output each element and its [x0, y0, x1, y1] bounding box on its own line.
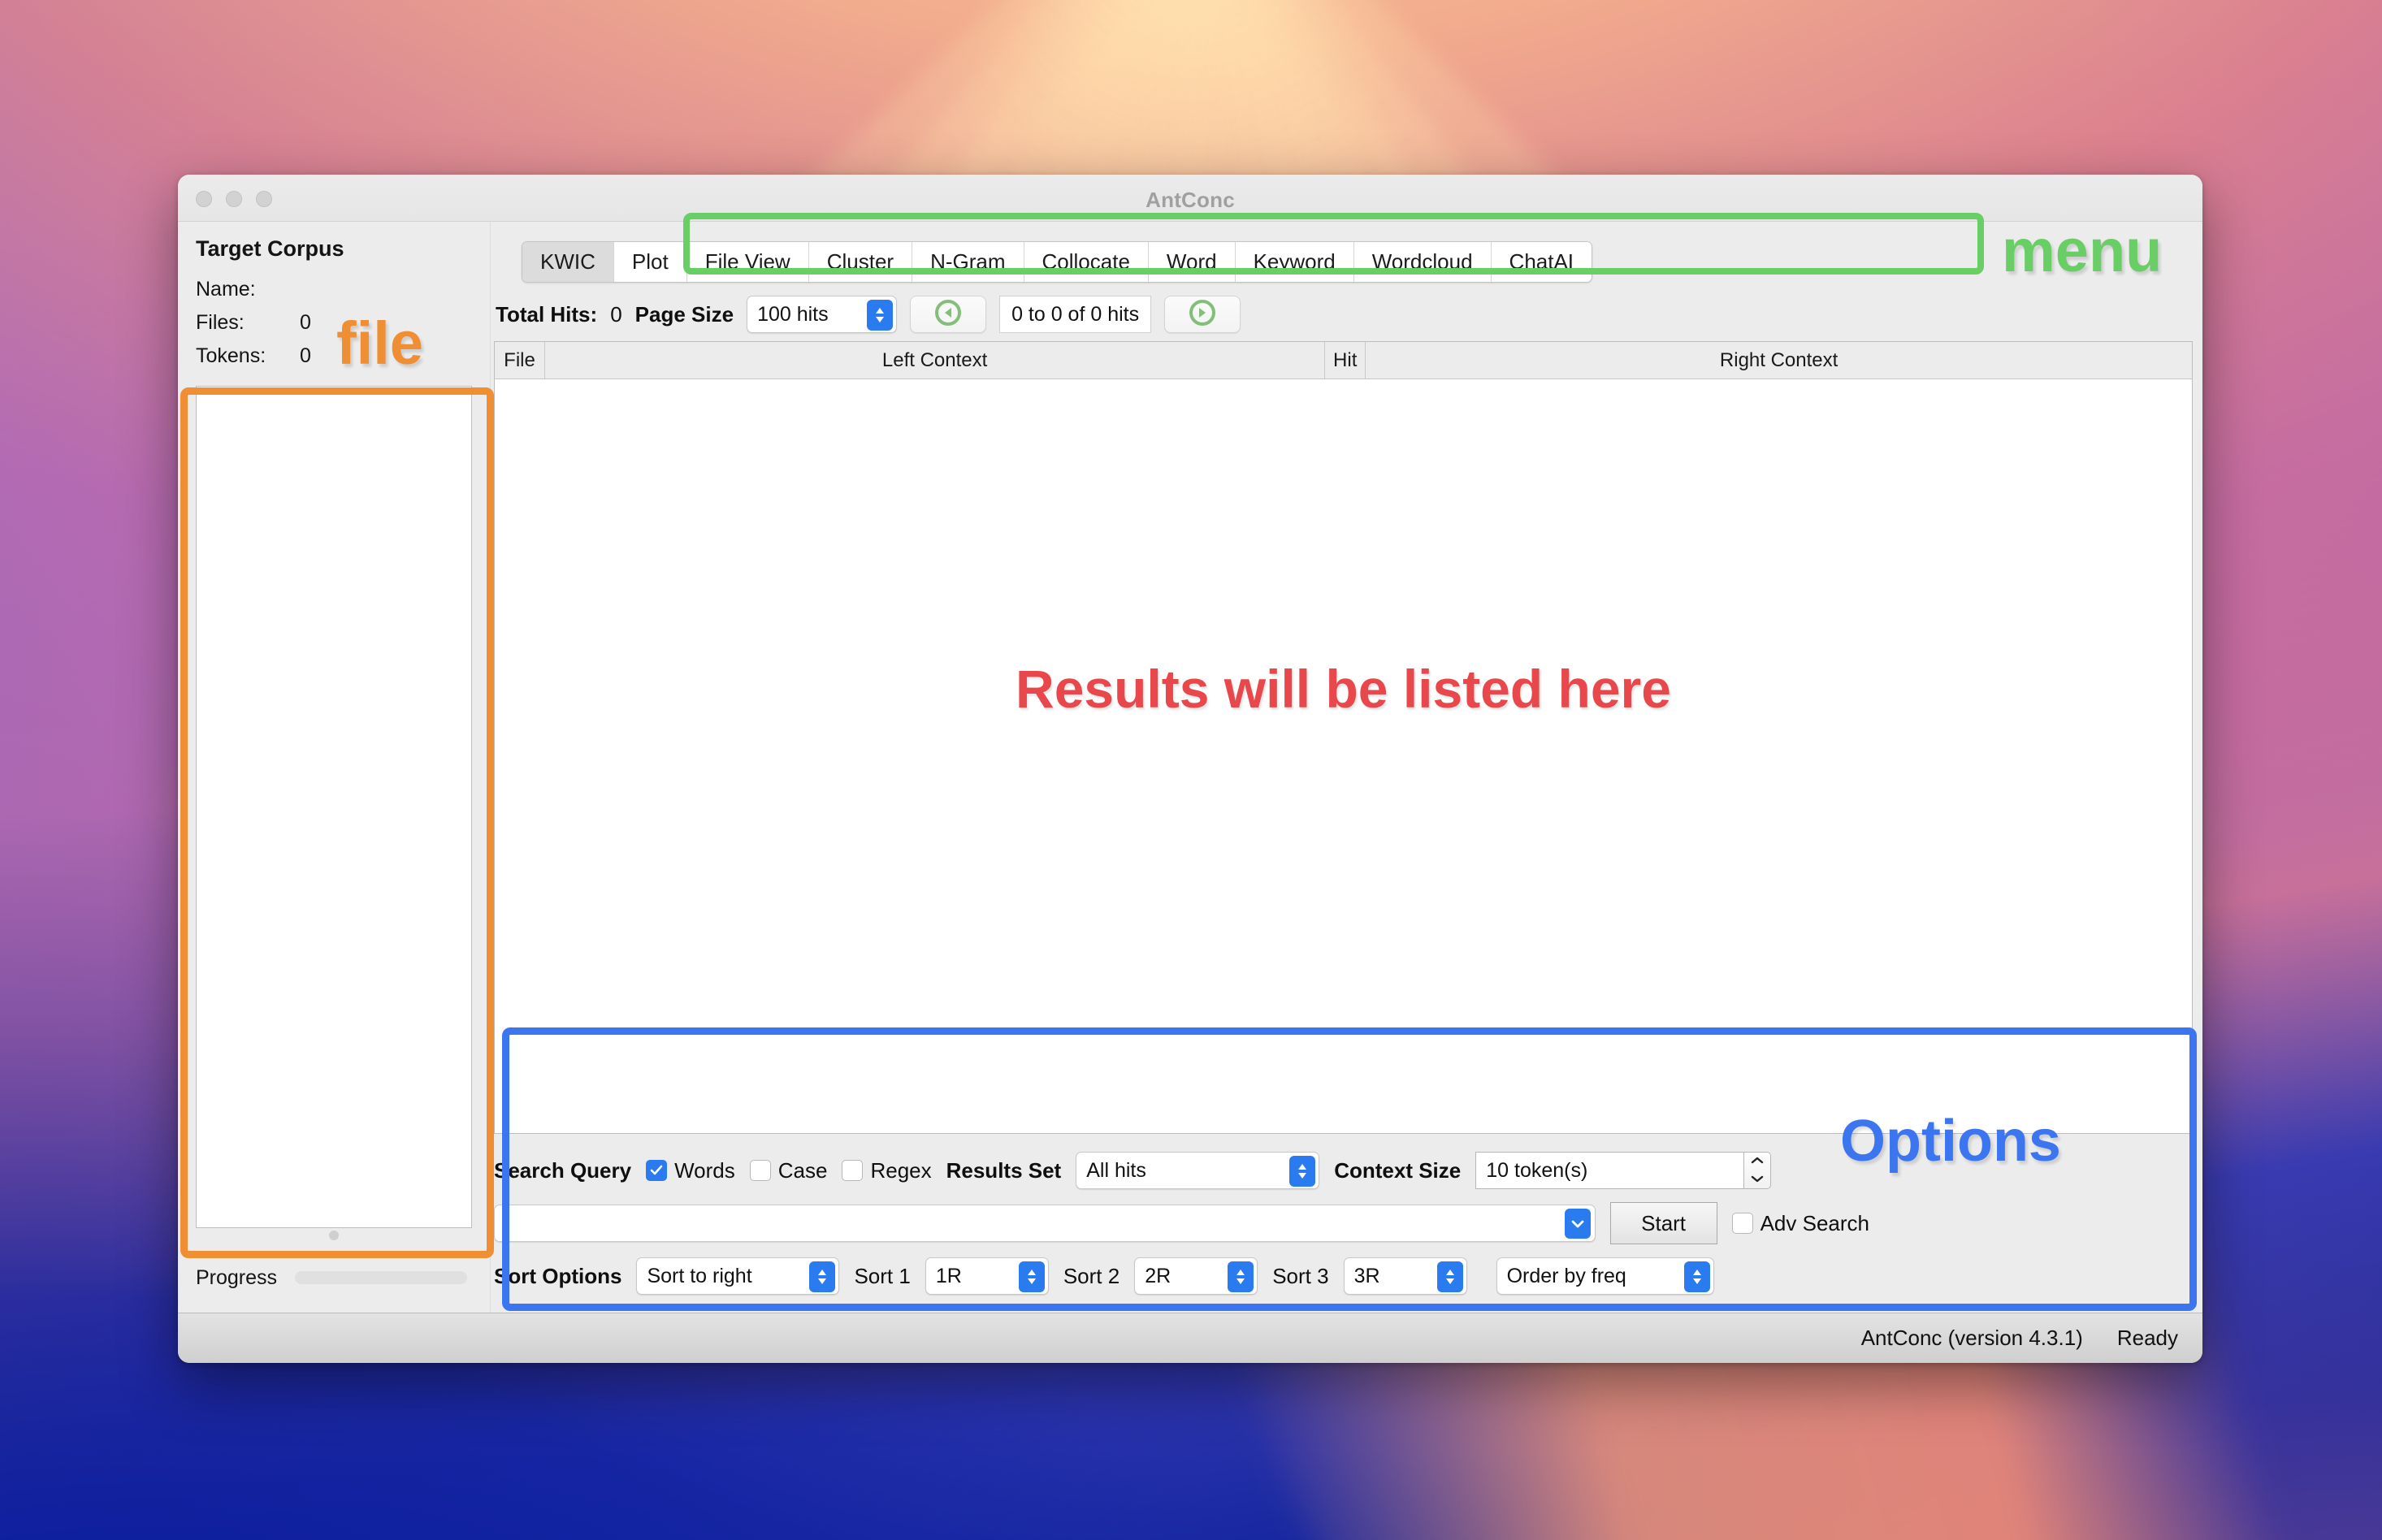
- main-panel: KWIC Plot File View Cluster N-Gram Collo…: [491, 222, 2202, 1313]
- tab-wordcloud[interactable]: Wordcloud: [1354, 242, 1492, 282]
- tab-cluster[interactable]: Cluster: [809, 242, 912, 282]
- app-version-text: AntConc (version 4.3.1): [1861, 1326, 2083, 1351]
- page-size-label: Page Size: [635, 302, 734, 327]
- progress-label: Progress: [196, 1266, 277, 1290]
- order-by-value: Order by freq: [1507, 1265, 1626, 1288]
- context-size-value[interactable]: 10 token(s): [1475, 1152, 1743, 1189]
- chevron-updown-icon[interactable]: [809, 1261, 835, 1292]
- adv-search-checkbox-group[interactable]: Adv Search: [1732, 1211, 1869, 1236]
- tabbar-container: KWIC Plot File View Cluster N-Gram Collo…: [491, 230, 2193, 291]
- tab-word[interactable]: Word: [1149, 242, 1236, 282]
- kwic-results-table: File Left Context Hit Right Context Resu…: [494, 341, 2193, 1134]
- tab-n-gram[interactable]: N-Gram: [912, 242, 1024, 282]
- sort-mode-value: Sort to right: [647, 1265, 751, 1288]
- words-checkbox-group[interactable]: Words: [646, 1158, 735, 1183]
- chevron-updown-icon[interactable]: [867, 300, 893, 331]
- table-body: Results will be listed here: [495, 379, 2192, 1133]
- status-bar: AntConc (version 4.3.1) Ready: [178, 1313, 2202, 1363]
- sort2-select[interactable]: 2R: [1134, 1257, 1258, 1295]
- context-size-label: Context Size: [1334, 1158, 1461, 1183]
- chevron-down-icon[interactable]: [1750, 1173, 1765, 1187]
- case-checkbox[interactable]: [750, 1160, 771, 1181]
- corpus-files-row: Files: 0: [196, 311, 472, 335]
- order-by-select[interactable]: Order by freq: [1496, 1257, 1714, 1295]
- sort-mode-select[interactable]: Sort to right: [636, 1257, 839, 1295]
- corpus-files-value: 0: [300, 311, 311, 335]
- search-query-input[interactable]: [494, 1205, 1596, 1242]
- arrow-left-circle-icon: [934, 299, 962, 331]
- context-size-stepper-arrows[interactable]: [1743, 1152, 1771, 1189]
- regex-checkbox[interactable]: [842, 1160, 863, 1181]
- corpus-tokens-label: Tokens:: [196, 344, 300, 368]
- start-button[interactable]: Start: [1610, 1202, 1717, 1244]
- column-header-hit[interactable]: Hit: [1325, 342, 1366, 379]
- case-checkbox-label: Case: [778, 1158, 828, 1183]
- page-size-select[interactable]: 100 hits: [747, 296, 897, 333]
- chevron-updown-icon[interactable]: [1228, 1261, 1254, 1292]
- regex-checkbox-label: Regex: [870, 1158, 931, 1183]
- window-body: Target Corpus Name: Files: 0 Tokens: 0 P…: [178, 222, 2202, 1313]
- tab-file-view[interactable]: File View: [687, 242, 809, 282]
- table-header-row: File Left Context Hit Right Context: [495, 342, 2192, 379]
- corpus-files-label: Files:: [196, 311, 300, 335]
- options-panel: Search Query Words Case Regex: [491, 1134, 2193, 1313]
- adv-search-label: Adv Search: [1761, 1211, 1869, 1236]
- column-header-file[interactable]: File: [495, 342, 545, 379]
- window-title: AntConc: [178, 188, 2202, 213]
- next-page-button[interactable]: [1164, 296, 1241, 333]
- sort1-value: 1R: [936, 1265, 962, 1288]
- sort-options-label: Sort Options: [494, 1264, 621, 1289]
- results-toolbar: Total Hits: 0 Page Size 100 hits: [491, 291, 2193, 341]
- sort3-label: Sort 3: [1272, 1264, 1328, 1289]
- hit-range-text: 0 to 0 of 0 hits: [1011, 303, 1139, 327]
- tab-keyword[interactable]: Keyword: [1236, 242, 1354, 282]
- sort2-label: Sort 2: [1063, 1264, 1120, 1289]
- file-list-resize-grip[interactable]: [196, 1228, 472, 1243]
- sort1-select[interactable]: 1R: [925, 1257, 1049, 1295]
- tab-plot[interactable]: Plot: [614, 242, 687, 282]
- corpus-tokens-row: Tokens: 0: [196, 344, 472, 368]
- options-row-query-settings: Search Query Words Case Regex: [494, 1147, 2193, 1196]
- results-set-label: Results Set: [946, 1158, 1062, 1183]
- progress-row: Progress: [196, 1243, 472, 1313]
- sort1-label: Sort 1: [854, 1264, 910, 1289]
- corpus-tokens-value: 0: [300, 344, 311, 368]
- chevron-updown-icon[interactable]: [1684, 1261, 1710, 1292]
- chevron-down-icon[interactable]: [1565, 1209, 1591, 1239]
- chevron-updown-icon[interactable]: [1437, 1261, 1463, 1292]
- sort3-value: 3R: [1354, 1265, 1380, 1288]
- sort3-select[interactable]: 3R: [1344, 1257, 1467, 1295]
- tab-collocate[interactable]: Collocate: [1024, 242, 1149, 282]
- corpus-name-label: Name:: [196, 278, 300, 301]
- results-set-value: All hits: [1086, 1159, 1146, 1183]
- previous-page-button[interactable]: [910, 296, 986, 333]
- options-row-sort: Sort Options Sort to right Sort 1 1R: [494, 1251, 2193, 1301]
- options-row-search: Start Adv Search: [494, 1196, 2193, 1251]
- hit-range-display: 0 to 0 of 0 hits: [999, 296, 1151, 333]
- page-size-value: 100 hits: [757, 303, 829, 327]
- case-checkbox-group[interactable]: Case: [750, 1158, 828, 1183]
- arrow-right-circle-icon: [1189, 299, 1216, 331]
- corpus-name-row: Name:: [196, 278, 472, 301]
- results-placeholder-text: Results will be listed here: [495, 658, 2192, 720]
- words-checkbox-label: Words: [674, 1158, 735, 1183]
- target-corpus-sidebar: Target Corpus Name: Files: 0 Tokens: 0 P…: [178, 222, 491, 1313]
- sidebar-title: Target Corpus: [196, 236, 472, 262]
- adv-search-checkbox[interactable]: [1732, 1213, 1753, 1234]
- search-query-label: Search Query: [494, 1158, 631, 1183]
- column-header-right-context[interactable]: Right Context: [1366, 342, 2192, 379]
- window-titlebar: AntConc: [178, 175, 2202, 222]
- regex-checkbox-group[interactable]: Regex: [842, 1158, 931, 1183]
- chevron-up-icon[interactable]: [1750, 1154, 1765, 1169]
- tool-tabbar[interactable]: KWIC Plot File View Cluster N-Gram Collo…: [522, 241, 1592, 283]
- sort2-value: 2R: [1145, 1265, 1171, 1288]
- tab-chatai[interactable]: ChatAI: [1492, 242, 1592, 282]
- context-size-spinner[interactable]: 10 token(s): [1475, 1152, 1771, 1189]
- total-hits-label: Total Hits:: [496, 302, 597, 327]
- words-checkbox[interactable]: [646, 1160, 667, 1181]
- tab-kwic[interactable]: KWIC: [522, 242, 614, 282]
- results-set-select[interactable]: All hits: [1076, 1152, 1319, 1189]
- chevron-updown-icon[interactable]: [1019, 1261, 1045, 1292]
- total-hits-value: 0: [610, 302, 621, 327]
- antconc-window: AntConc Target Corpus Name: Files: 0 Tok…: [178, 175, 2202, 1363]
- column-header-left-context[interactable]: Left Context: [545, 342, 1325, 379]
- status-state-text: Ready: [2117, 1326, 2178, 1351]
- corpus-file-list[interactable]: [196, 386, 472, 1228]
- progress-bar: [295, 1271, 467, 1284]
- chevron-updown-icon[interactable]: [1289, 1156, 1315, 1187]
